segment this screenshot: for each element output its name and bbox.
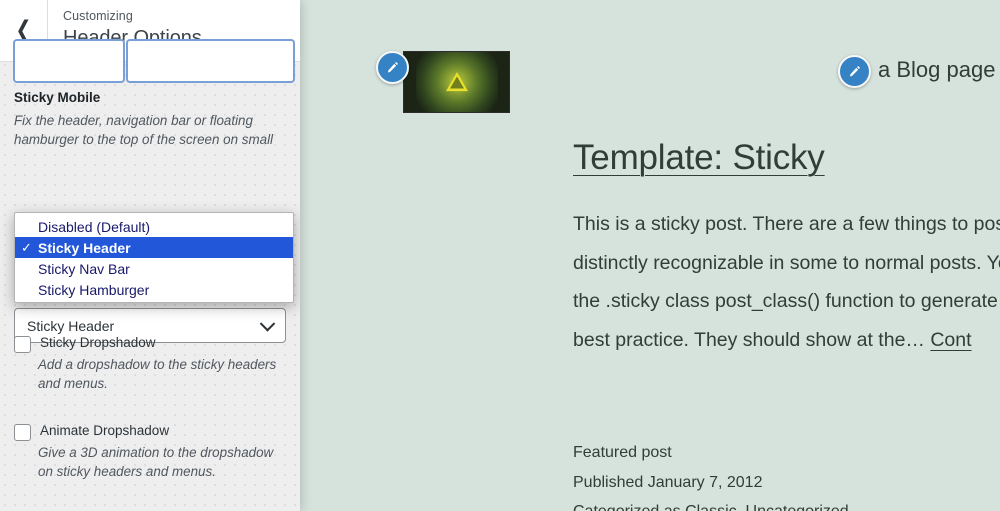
- animate-dropshadow-checkbox[interactable]: [14, 424, 31, 441]
- animate-dropshadow-label: Animate Dropshadow: [40, 423, 169, 440]
- post-featured-label: Featured post: [573, 438, 849, 468]
- post-article: Template: Sticky This is a sticky post. …: [573, 138, 1000, 360]
- sticky-mobile-label: Sticky Mobile: [0, 89, 300, 107]
- customizer-sidebar: ❮ Customizing Header Options Sticky Mobi…: [0, 0, 300, 511]
- edit-logo-pin[interactable]: [376, 51, 409, 84]
- dropdown-option-disabled[interactable]: Disabled (Default): [15, 216, 293, 237]
- sticky-mobile-dropdown-menu[interactable]: Disabled (Default) ✓ Sticky Header Stick…: [14, 212, 294, 303]
- dropdown-option-label: Disabled (Default): [38, 219, 150, 235]
- post-title[interactable]: Template: Sticky: [573, 138, 1000, 178]
- animate-dropshadow-row[interactable]: Animate Dropshadow: [0, 423, 300, 441]
- control-sticky-mobile: Sticky Mobile Fix the header, navigation…: [0, 89, 300, 191]
- site-logo: [403, 51, 510, 113]
- sticky-dropshadow-checkbox[interactable]: [14, 336, 31, 353]
- control-sticky-dropshadow: Sticky Dropshadow Add a dropshadow to th…: [0, 335, 300, 393]
- dropdown-option-sticky-nav-bar[interactable]: Sticky Nav Bar: [15, 258, 293, 279]
- blog-page-label: a Blog page: [878, 57, 995, 83]
- sticky-mobile-description: Fix the header, navigation bar or floati…: [0, 107, 300, 149]
- warning-triangle-inner: [450, 76, 464, 88]
- sticky-dropshadow-row[interactable]: Sticky Dropshadow: [0, 335, 300, 353]
- sticky-desktop-select-value: Sticky Header: [27, 318, 114, 334]
- post-categories: Categorized as Classic, Uncategorized: [573, 497, 849, 511]
- panel-body: Sticky Mobile Fix the header, navigation…: [0, 62, 300, 511]
- chevron-left-icon: ❮: [16, 19, 32, 43]
- pencil-icon: [385, 60, 400, 75]
- post-published-date: Published January 7, 2012: [573, 468, 849, 498]
- breadcrumb: Customizing: [63, 8, 300, 24]
- dropdown-option-sticky-hamburger[interactable]: Sticky Hamburger: [15, 279, 293, 300]
- sticky-dropshadow-label: Sticky Dropshadow: [40, 335, 156, 352]
- post-meta: Featured post Published January 7, 2012 …: [573, 438, 849, 511]
- post-excerpt: This is a sticky post. There are a few t…: [573, 205, 1000, 359]
- clipped-field-left[interactable]: [14, 40, 124, 82]
- edit-title-pin[interactable]: [838, 55, 871, 88]
- dropdown-option-label: Sticky Header: [38, 240, 131, 256]
- dropdown-option-label: Sticky Hamburger: [38, 282, 149, 298]
- dropdown-option-sticky-header[interactable]: ✓ Sticky Header: [15, 237, 293, 258]
- sticky-dropshadow-description: Add a dropshadow to the sticky headers a…: [0, 353, 300, 393]
- site-preview[interactable]: a Blog page Template: Sticky This is a s…: [300, 0, 1000, 511]
- check-icon: ✓: [21, 241, 38, 254]
- pencil-icon: [847, 64, 862, 79]
- customizer-screen: ❮ Customizing Header Options Sticky Mobi…: [0, 0, 1000, 511]
- animate-dropshadow-description: Give a 3D animation to the dropshadow on…: [0, 441, 300, 481]
- clipped-field-right[interactable]: [127, 40, 294, 82]
- chevron-down-icon: [260, 316, 276, 332]
- dropdown-option-label: Sticky Nav Bar: [38, 261, 130, 277]
- control-animate-dropshadow: Animate Dropshadow Give a 3D animation t…: [0, 423, 300, 481]
- continue-reading-link[interactable]: Cont: [930, 329, 971, 351]
